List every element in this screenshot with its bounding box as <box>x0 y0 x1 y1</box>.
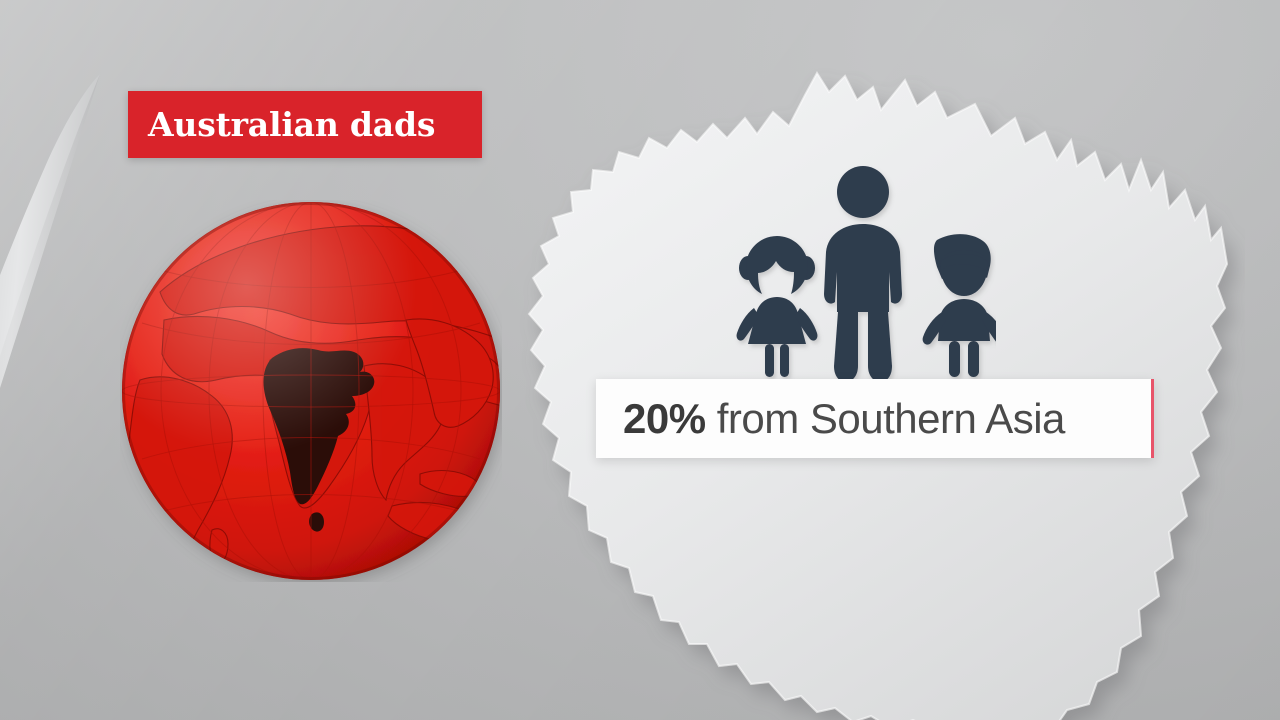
caption-text: 20% from Southern Asia <box>596 395 1065 443</box>
caption-percent: 20% <box>623 395 706 442</box>
man-pictogram <box>824 166 902 382</box>
page-title: Australian dads <box>128 105 435 144</box>
boy-pictogram <box>923 234 996 377</box>
infographic-canvas: Australian dads <box>0 0 1280 720</box>
caption-rest: from Southern Asia <box>706 395 1065 442</box>
title-banner: Australian dads <box>128 91 482 158</box>
girl-pictogram <box>737 236 818 377</box>
family-pictogram-group <box>730 160 996 385</box>
caption-box: 20% from Southern Asia <box>596 379 1154 458</box>
caption-accent-bar <box>1151 379 1154 458</box>
globe-icon <box>120 200 502 582</box>
